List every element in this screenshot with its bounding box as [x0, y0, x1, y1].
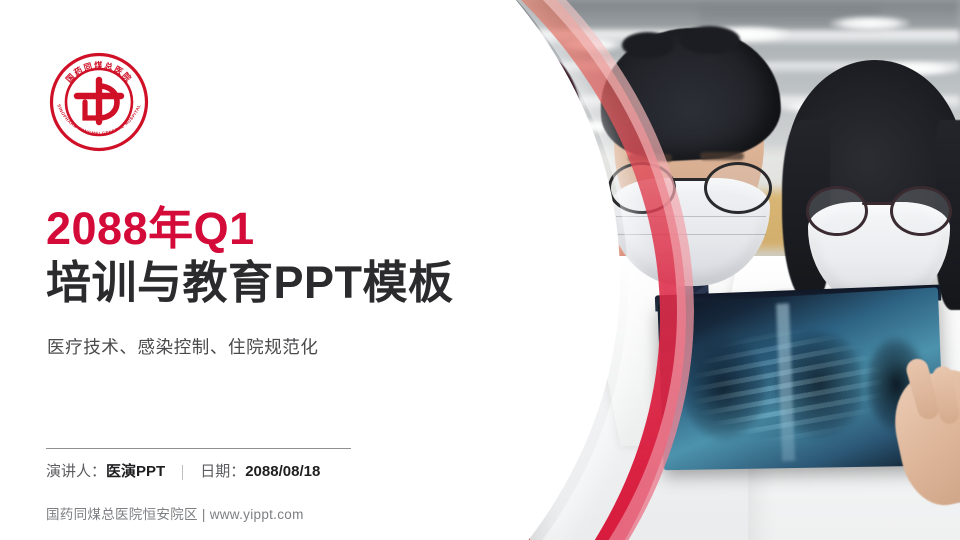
- doctor-hair: [680, 26, 740, 54]
- glasses-lens-left: [608, 162, 676, 214]
- footer-text: 国药同煤总医院恒安院区 | www.yippt.com: [46, 505, 304, 525]
- glasses-lens-right: [890, 186, 952, 236]
- date-value: 2088/08/18: [245, 461, 320, 483]
- title-line-1: 2088年Q1: [46, 203, 454, 255]
- subtitle: 医疗技术、感染控制、住院规范化: [47, 334, 319, 360]
- doctor-hair: [622, 32, 674, 58]
- eyeglasses: [606, 158, 774, 212]
- glasses-bridge: [672, 178, 708, 181]
- meta-separator: [182, 465, 183, 480]
- presenter-value: 医演PPT: [106, 461, 165, 483]
- presenter-label: 演讲人：: [46, 461, 106, 483]
- meta-row: 演讲人： 医演PPT 日期： 2088/08/18: [46, 461, 320, 483]
- hospital-logo: 国药同煤总医院 SINOPHARM TONGMEI GENERAL HOSPIT…: [47, 50, 151, 154]
- glasses-lens-right: [704, 162, 772, 214]
- title-line-2: 培训与教育PPT模板: [46, 255, 454, 311]
- ceiling-lamp: [830, 16, 910, 31]
- date-label: 日期：: [200, 461, 245, 483]
- mask-fold: [616, 216, 766, 217]
- eyeglasses: [804, 182, 954, 234]
- meta-divider-line: [46, 448, 351, 449]
- mask-fold: [616, 234, 766, 235]
- xray-spine: [776, 303, 795, 461]
- ppt-title-slide: 国药同煤总医院 SINOPHARM TONGMEI GENERAL HOSPIT…: [0, 0, 960, 540]
- title-block: 2088年Q1 培训与教育PPT模板: [46, 203, 454, 311]
- slide-content: 国药同煤总医院 SINOPHARM TONGMEI GENERAL HOSPIT…: [0, 0, 420, 540]
- glasses-bridge: [862, 202, 894, 205]
- glasses-lens-left: [806, 186, 868, 236]
